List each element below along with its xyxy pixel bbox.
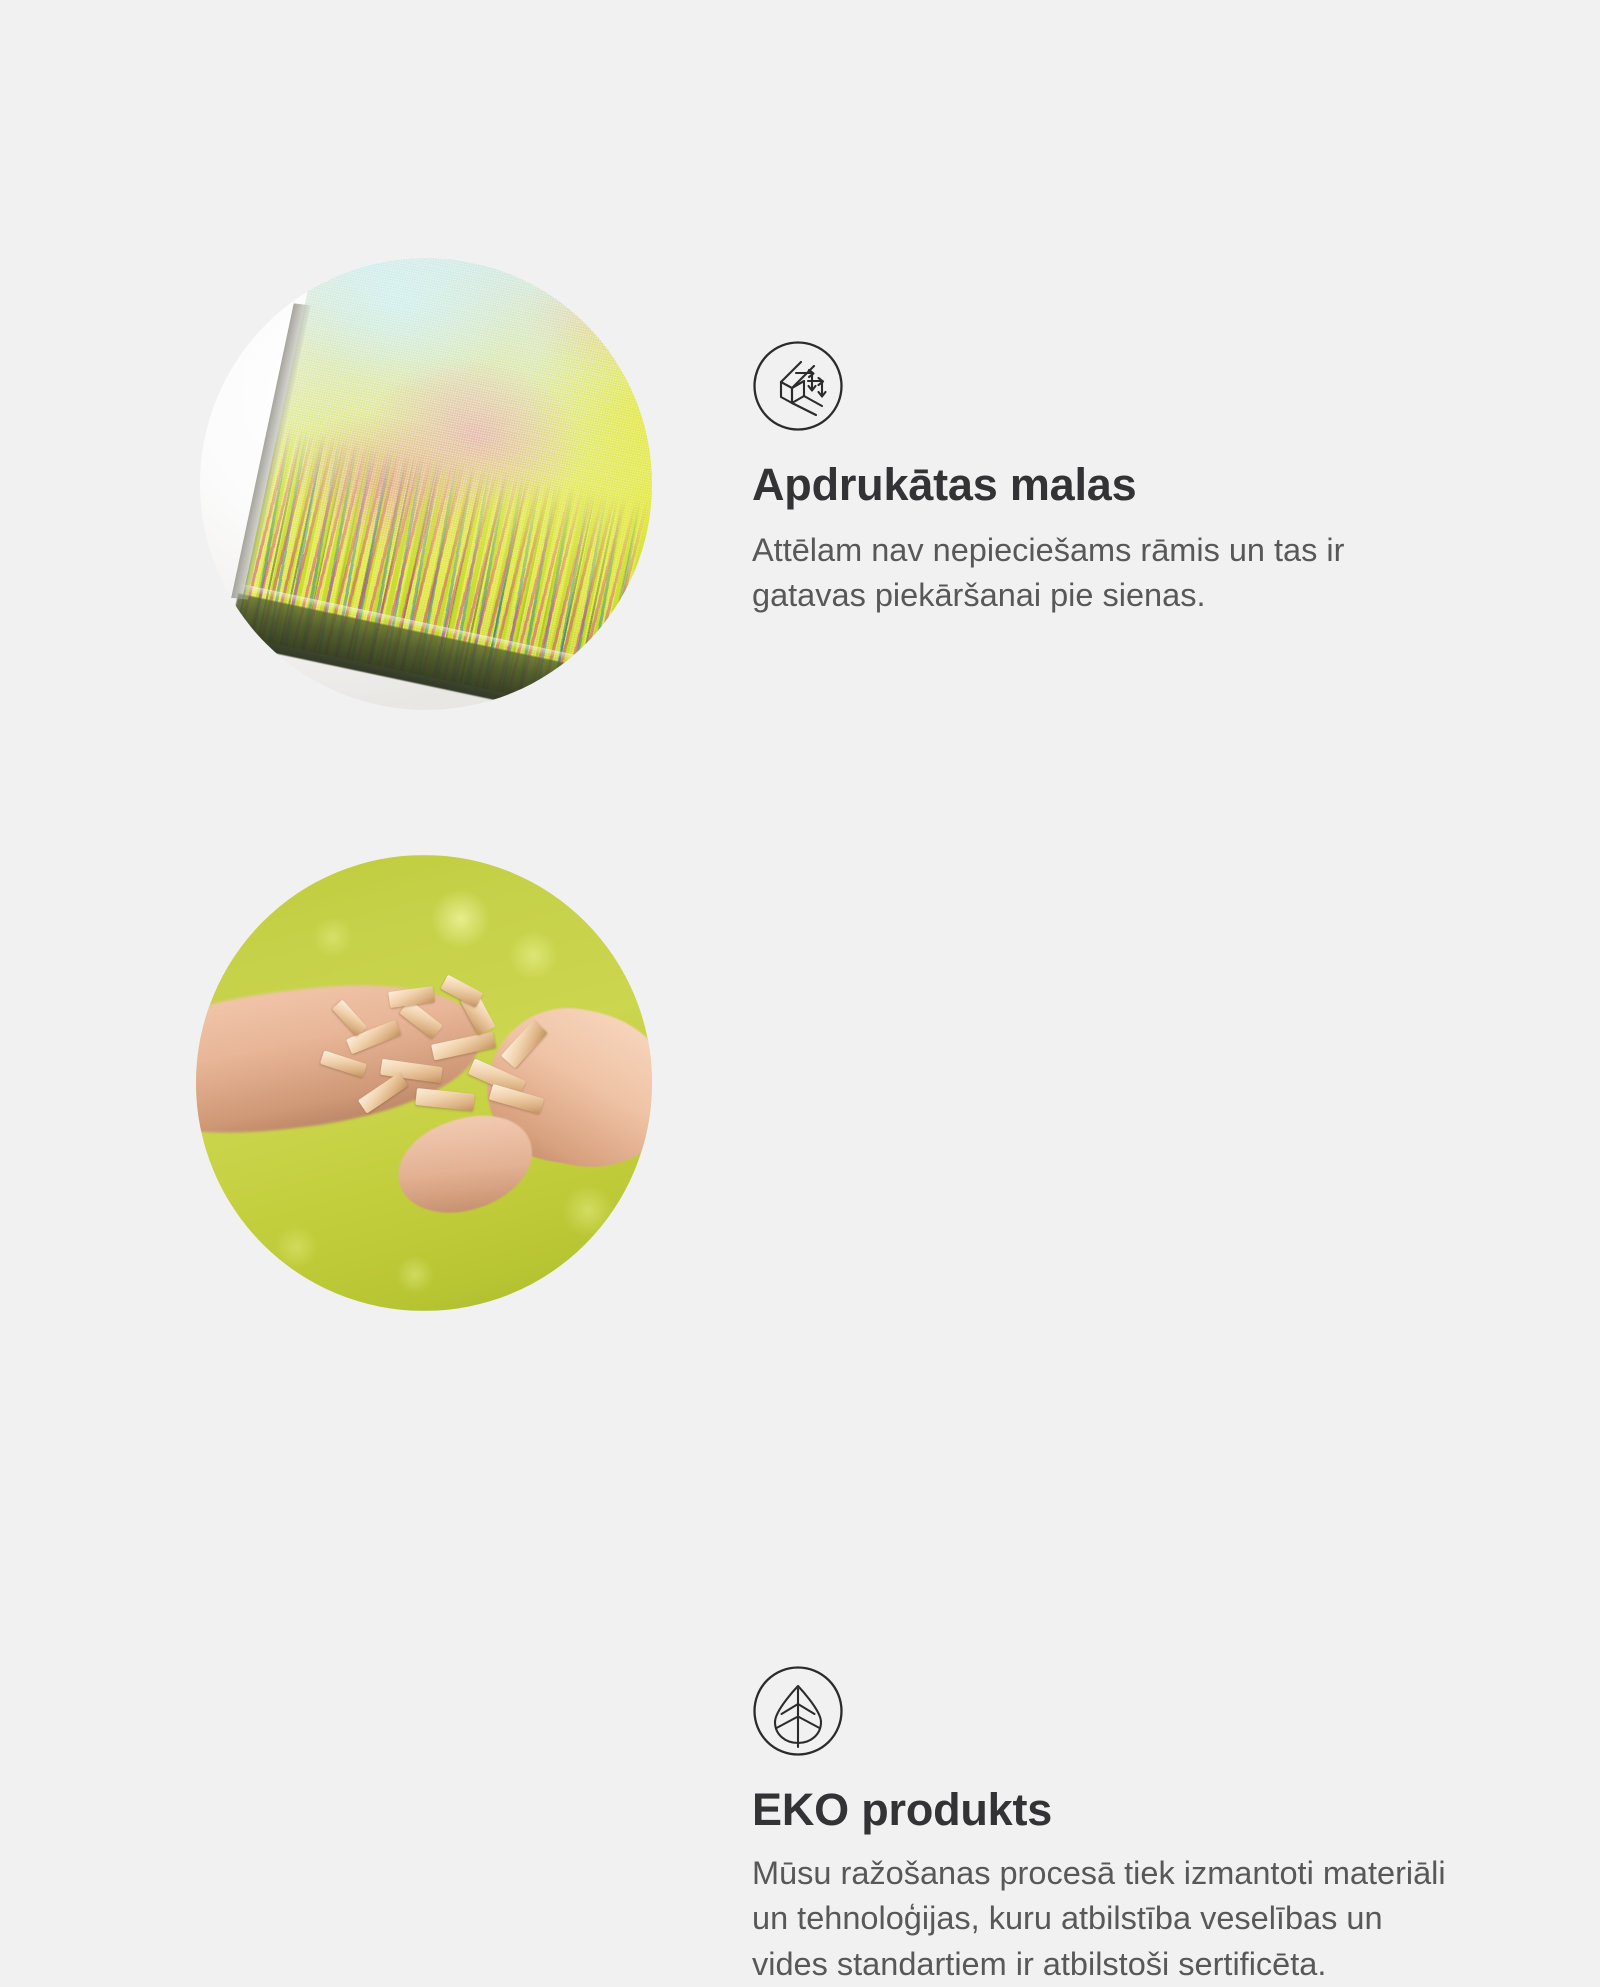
canvas-print-edge-photo [200, 258, 652, 710]
leaf-icon [752, 1665, 844, 1757]
printed-edges-icon [752, 340, 844, 432]
feature-block-eco-product: EKO produkts Mūsu ražošanas procesā tiek… [0, 800, 1600, 1600]
wood-chips-pile [310, 983, 574, 1138]
feature-block-printed-edges: Apdrukātas malas Attēlam nav nepieciešam… [0, 0, 1600, 800]
feature-text-eco-product: EKO produkts Mūsu ražošanas procesā tiek… [752, 1665, 1492, 1987]
feature-title: Apdrukātas malas [752, 460, 1492, 510]
photo-clip [196, 855, 652, 1311]
photo-clip [200, 258, 652, 710]
canvas-block [235, 258, 652, 710]
feature-title: EKO produkts [752, 1785, 1492, 1835]
feature-description: Mūsu ražošanas procesā tiek izmantoti ma… [752, 1851, 1452, 1987]
feature-text-printed-edges: Apdrukātas malas Attēlam nav nepieciešam… [752, 340, 1492, 619]
feature-highlights-page: Apdrukātas malas Attēlam nav nepieciešam… [0, 0, 1600, 1600]
feature-description: Attēlam nav nepieciešams rāmis un tas ir… [752, 528, 1452, 619]
eco-wood-chips-photo [196, 855, 652, 1311]
